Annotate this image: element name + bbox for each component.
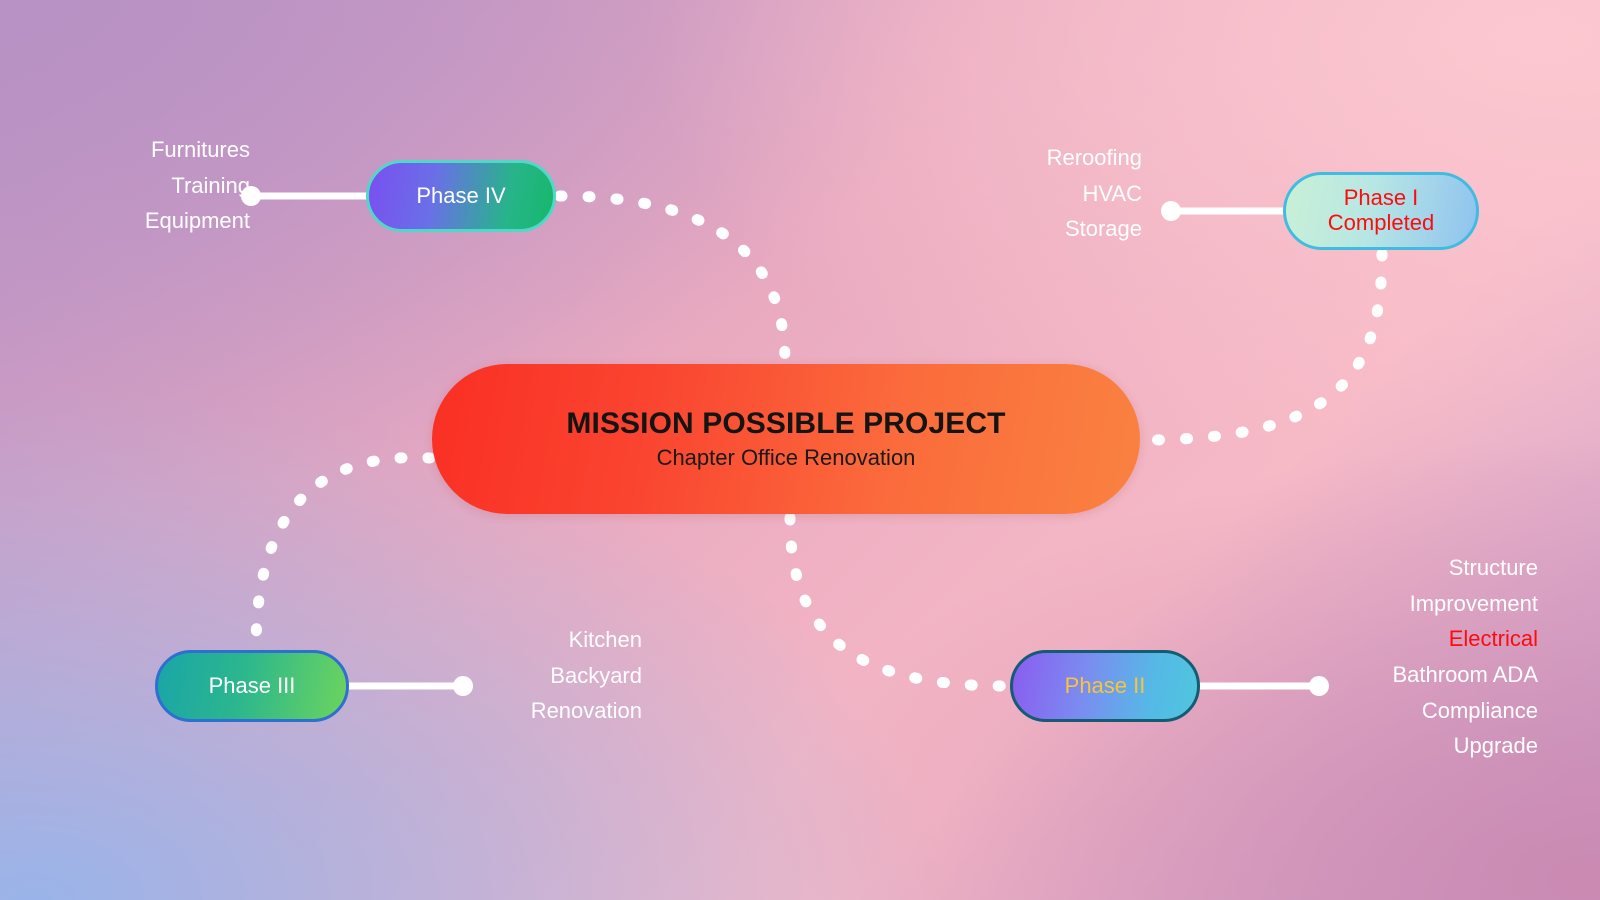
item-phase-1-2: Storage xyxy=(880,211,1142,247)
item-phase-2-1: Electrical xyxy=(1310,621,1538,657)
item-phase-3-0: Kitchen xyxy=(470,622,642,658)
connector-phase-3 xyxy=(256,458,430,648)
phase-node-label-phase-2: Phase II xyxy=(1065,674,1146,699)
phase-node-phase-1[interactable]: Phase I Completed xyxy=(1283,172,1479,250)
connector-phase-4 xyxy=(560,196,785,362)
item-list-phase-2: Structure Improvement Electrical Bathroo… xyxy=(1310,550,1538,764)
connector-phase-2 xyxy=(790,518,1006,686)
phase-node-phase-2[interactable]: Phase II xyxy=(1010,650,1200,722)
item-list-phase-3: Kitchen Backyard Renovation xyxy=(470,622,642,729)
mindmap-canvas: MISSION POSSIBLE PROJECT Chapter Office … xyxy=(0,0,1600,900)
item-phase-2-2: Bathroom ADA xyxy=(1310,657,1538,693)
phase-node-phase-4[interactable]: Phase IV xyxy=(366,160,556,232)
item-list-phase-1: Reroofing HVAC Storage xyxy=(880,140,1142,247)
item-phase-4-1: Training Equipment xyxy=(0,168,250,239)
central-node-subtitle: Chapter Office Renovation xyxy=(657,446,916,471)
item-phase-1-1: HVAC xyxy=(880,176,1142,212)
connector-phase-1 xyxy=(1142,254,1382,440)
central-node[interactable]: MISSION POSSIBLE PROJECT Chapter Office … xyxy=(432,364,1140,514)
item-phase-4-0: Furnitures xyxy=(0,132,250,168)
central-node-title: MISSION POSSIBLE PROJECT xyxy=(566,407,1005,441)
item-phase-2-3: Compliance Upgrade xyxy=(1310,693,1538,764)
item-list-phase-4: Furnitures Training Equipment xyxy=(0,132,250,239)
item-phase-1-0: Reroofing xyxy=(880,140,1142,176)
phase-node-label-phase-3: Phase III xyxy=(209,674,296,699)
phase-node-label-phase-1: Phase I Completed xyxy=(1328,186,1434,235)
phase-node-label-phase-4: Phase IV xyxy=(416,184,505,209)
item-phase-2-0: Structure Improvement xyxy=(1310,550,1538,621)
leader-dot-phase-1 xyxy=(1161,201,1181,221)
item-phase-3-1: Backyard Renovation xyxy=(470,658,642,729)
phase-node-phase-3[interactable]: Phase III xyxy=(155,650,349,722)
